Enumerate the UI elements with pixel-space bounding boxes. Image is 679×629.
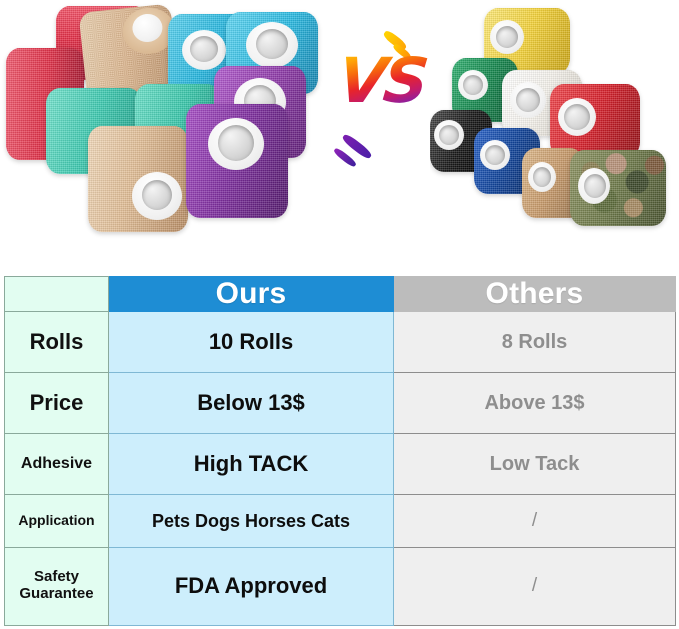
- our-product-photo: [0, 0, 340, 260]
- header-blank-cell: [5, 277, 109, 312]
- ours-value-adhesive: High TACK: [109, 434, 394, 495]
- hero-banner: VS: [0, 0, 679, 276]
- table-row: Safety Guarantee FDA Approved /: [5, 547, 676, 625]
- bandage-roll: [550, 84, 640, 158]
- row-label-safety-guarantee: Safety Guarantee: [5, 547, 109, 625]
- bandage-roll: [88, 126, 188, 232]
- row-label-application: Application: [5, 495, 109, 547]
- others-value-price: Above 13$: [394, 373, 676, 434]
- others-value-adhesive: Low Tack: [394, 434, 676, 495]
- competitor-product-photo: [430, 0, 679, 260]
- table-row: Price Below 13$ Above 13$: [5, 373, 676, 434]
- table-header-row: Ours Others: [5, 277, 676, 312]
- vs-badge: VS: [330, 38, 434, 188]
- others-value-application: /: [394, 495, 676, 547]
- bandage-roll: [570, 150, 666, 226]
- header-others: Others: [394, 277, 676, 312]
- comparison-table: Ours Others Rolls 10 Rolls 8 Rolls Price…: [4, 276, 676, 626]
- ours-value-application: Pets Dogs Horses Cats: [109, 495, 394, 547]
- others-value-rolls: 8 Rolls: [394, 312, 676, 373]
- row-label-adhesive: Adhesive: [5, 434, 109, 495]
- row-label-price: Price: [5, 373, 109, 434]
- ours-value-price: Below 13$: [109, 373, 394, 434]
- table-row: Rolls 10 Rolls 8 Rolls: [5, 312, 676, 373]
- ours-value-rolls: 10 Rolls: [109, 312, 394, 373]
- header-ours: Ours: [109, 277, 394, 312]
- bandage-roll: [186, 104, 288, 218]
- vs-label: VS: [327, 50, 438, 112]
- table-row: Application Pets Dogs Horses Cats /: [5, 495, 676, 547]
- ours-value-safety-guarantee: FDA Approved: [109, 547, 394, 625]
- row-label-rolls: Rolls: [5, 312, 109, 373]
- others-value-safety-guarantee: /: [394, 547, 676, 625]
- comparison-table-container: Ours Others Rolls 10 Rolls 8 Rolls Price…: [4, 276, 675, 626]
- table-row: Adhesive High TACK Low Tack: [5, 434, 676, 495]
